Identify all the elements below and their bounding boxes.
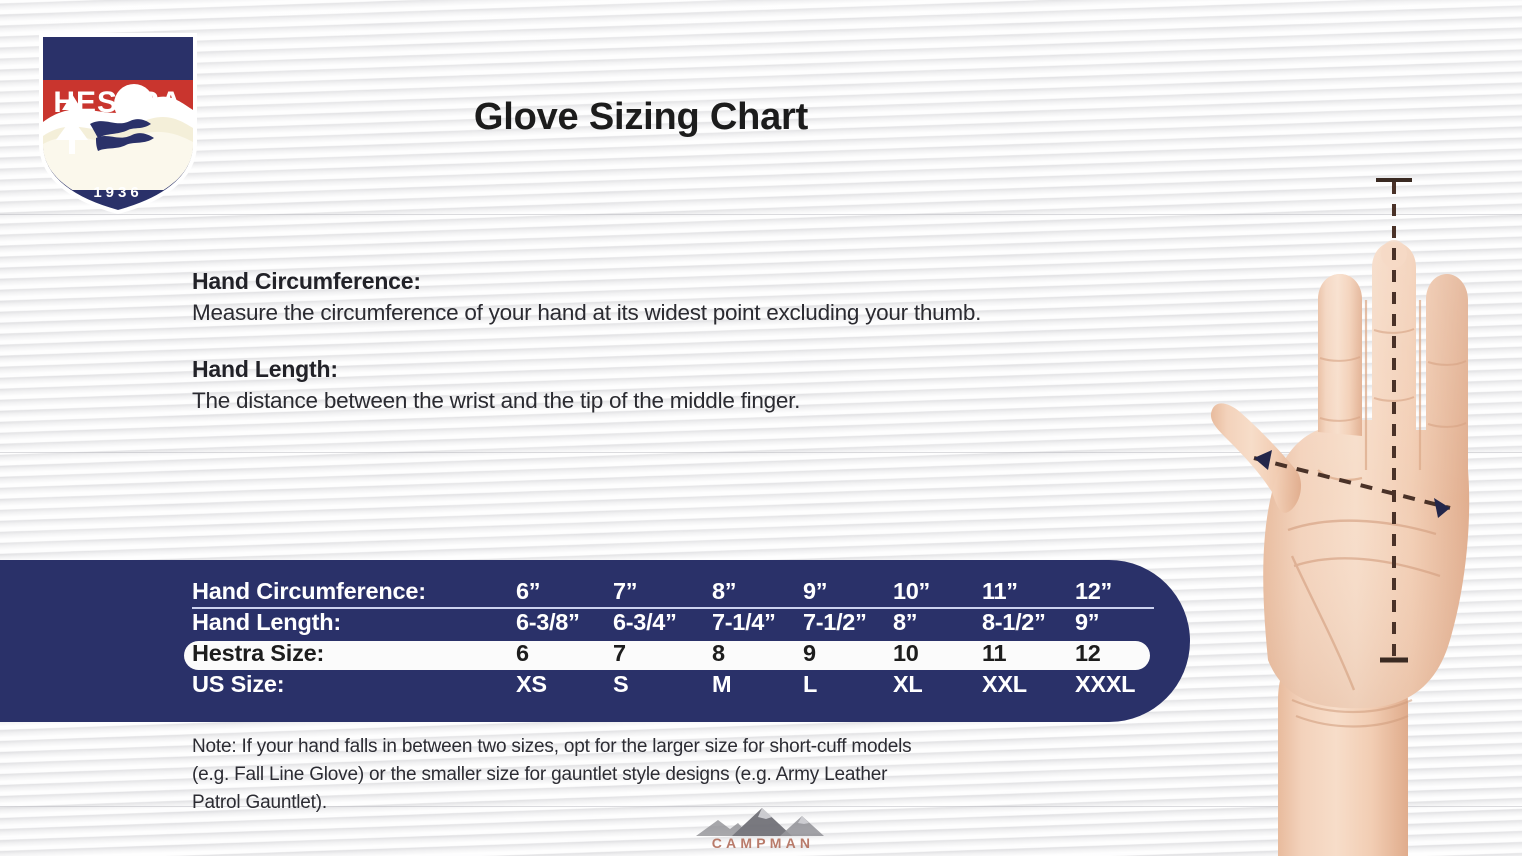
table-cell: 12” (1075, 578, 1172, 605)
hand-diagram (1150, 0, 1522, 856)
table-cell: 6 (516, 640, 613, 667)
size-table: Hand Circumference: 6” 7” 8” 9” 10” 11” … (192, 578, 1182, 702)
row-values: 6” 7” 8” 9” 10” 11” 12” (516, 578, 1182, 605)
table-cell: 7 (613, 640, 712, 667)
table-cell: XXXL (1075, 671, 1172, 698)
table-cell: 9” (803, 578, 893, 605)
table-row: Hand Circumference: 6” 7” 8” 9” 10” 11” … (192, 578, 1182, 609)
row-label: Hestra Size: (192, 640, 516, 667)
hand-photo (1211, 240, 1469, 856)
table-row: Hand Length: 6-3/8” 6-3/4” 7-1/4” 7-1/2”… (192, 609, 1182, 640)
table-cell: 11 (982, 640, 1075, 667)
table-cell: XS (516, 671, 613, 698)
instruction-heading: Hand Circumference: (192, 268, 1252, 295)
table-cell: 6-3/8” (516, 609, 613, 636)
table-cell: 10 (893, 640, 982, 667)
table-cell: 9 (803, 640, 893, 667)
campman-watermark: CAMPMAN (688, 802, 838, 854)
page-title-text: Glove Sizing Chart (474, 96, 808, 139)
instruction-body: Measure the circumference of your hand a… (192, 300, 1252, 326)
row-label: Hand Length: (192, 609, 516, 636)
instructions-section: Hand Circumference: Measure the circumfe… (192, 268, 1252, 444)
glove-sizing-chart-page: HESTRA 1936 Glove Sizing Chart Hand Circ… (0, 0, 1522, 856)
table-cell: 8” (893, 609, 982, 636)
table-cell: 6” (516, 578, 613, 605)
row-label: Hand Circumference: (192, 578, 516, 605)
table-cell: 10” (893, 578, 982, 605)
table-row: US Size: XS S M L XL XXL XXXL (192, 671, 1182, 702)
table-cell: XL (893, 671, 982, 698)
table-cell: S (613, 671, 712, 698)
table-row-hestra-size: Hestra Size: 6 7 8 9 10 11 12 (192, 640, 1182, 671)
campman-wordmark: CAMPMAN (688, 835, 838, 851)
instruction-body: The distance between the wrist and the t… (192, 388, 1252, 414)
row-values: 6 7 8 9 10 11 12 (516, 640, 1182, 667)
table-cell: 8-1/2” (982, 609, 1075, 636)
founded-year: 1936 (93, 184, 142, 201)
instruction-hand-length: Hand Length: The distance between the wr… (192, 356, 1252, 414)
table-cell: 12 (1075, 640, 1172, 667)
table-cell: 11” (982, 578, 1075, 605)
table-cell: 7-1/2” (803, 609, 893, 636)
table-cell: M (712, 671, 803, 698)
table-cell: 7” (613, 578, 712, 605)
table-cell: 8” (712, 578, 803, 605)
mountain-icon (688, 802, 838, 838)
table-cell: 8 (712, 640, 803, 667)
table-cell: 7-1/4” (712, 609, 803, 636)
instruction-heading: Hand Length: (192, 356, 1252, 383)
instruction-hand-circumference: Hand Circumference: Measure the circumfe… (192, 268, 1252, 326)
row-values: 6-3/8” 6-3/4” 7-1/4” 7-1/2” 8” 8-1/2” 9” (516, 609, 1182, 636)
table-cell: XXL (982, 671, 1075, 698)
table-cell: L (803, 671, 893, 698)
row-values: XS S M L XL XXL XXXL (516, 671, 1182, 698)
table-cell: 9” (1075, 609, 1172, 636)
row-label: US Size: (192, 671, 516, 698)
table-cell: 6-3/4” (613, 609, 712, 636)
